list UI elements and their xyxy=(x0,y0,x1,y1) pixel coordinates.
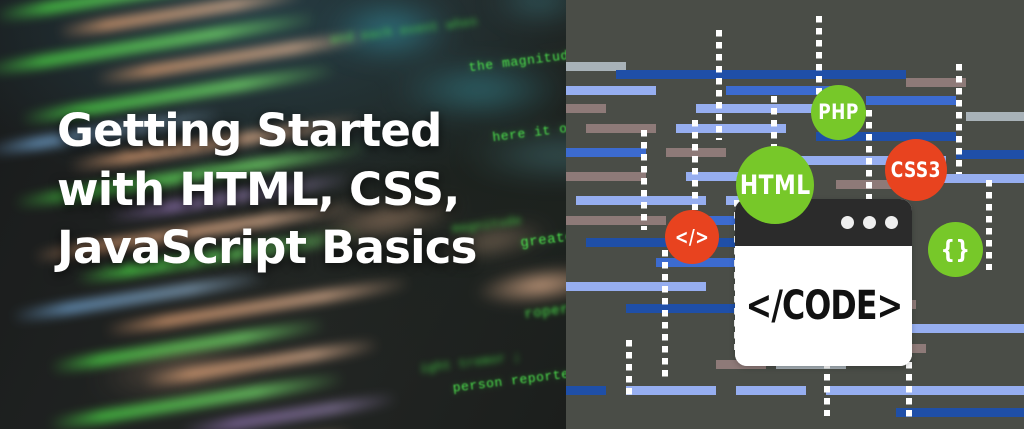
code-block-bar xyxy=(966,112,1024,121)
braces-badge[interactable]: {} xyxy=(928,222,983,277)
code-block-bar xyxy=(826,386,1024,395)
css3-badge-label: CSS3 xyxy=(891,160,941,181)
code-tag-badge[interactable]: </> xyxy=(665,210,719,264)
code-block-bar xyxy=(896,408,1024,417)
code-block-bar xyxy=(866,96,956,105)
dashed-connector xyxy=(956,64,962,174)
code-window-body: </CODE> xyxy=(735,246,912,366)
code-block-bar xyxy=(566,282,706,291)
headline-line-3: JavaScript Basics xyxy=(57,219,577,278)
dashed-connector xyxy=(692,120,698,210)
dashed-connector xyxy=(716,30,722,140)
headline-line-2: with HTML, CSS, xyxy=(57,161,577,220)
php-badge-label: PHP xyxy=(818,102,859,123)
html-badge-label: HTML xyxy=(740,172,811,199)
dashed-connector xyxy=(641,130,647,230)
code-block-bar xyxy=(736,386,806,395)
css3-badge[interactable]: CSS3 xyxy=(885,139,947,201)
code-block-bar xyxy=(566,172,646,181)
dashed-connector xyxy=(986,180,992,270)
code-block-bar xyxy=(566,86,656,95)
dashed-connector xyxy=(662,250,668,380)
code-block-bar xyxy=(566,216,666,225)
window-dot-icon xyxy=(863,216,876,229)
php-badge[interactable]: PHP xyxy=(811,85,866,140)
dashed-connector xyxy=(816,16,822,96)
window-dot-icon xyxy=(885,216,898,229)
headline-line-1: Getting Started xyxy=(57,102,577,161)
code-block-bar xyxy=(956,150,1024,159)
code-block-bar xyxy=(626,386,716,395)
banner: the magnitude and each ehere it occurred… xyxy=(0,0,1024,429)
page-title: Getting Started with HTML, CSS, JavaScri… xyxy=(57,102,577,278)
code-tag-badge-label: </> xyxy=(675,227,709,247)
code-block-bar xyxy=(566,148,646,157)
dashed-connector xyxy=(626,340,632,400)
code-block-bar xyxy=(566,386,606,395)
code-window[interactable]: </CODE> xyxy=(735,199,912,366)
html-badge[interactable]: HTML xyxy=(736,146,814,224)
code-window-label: </CODE> xyxy=(745,283,902,329)
window-dot-icon xyxy=(841,216,854,229)
code-block-bar xyxy=(616,70,906,79)
braces-badge-label: {} xyxy=(941,237,971,262)
